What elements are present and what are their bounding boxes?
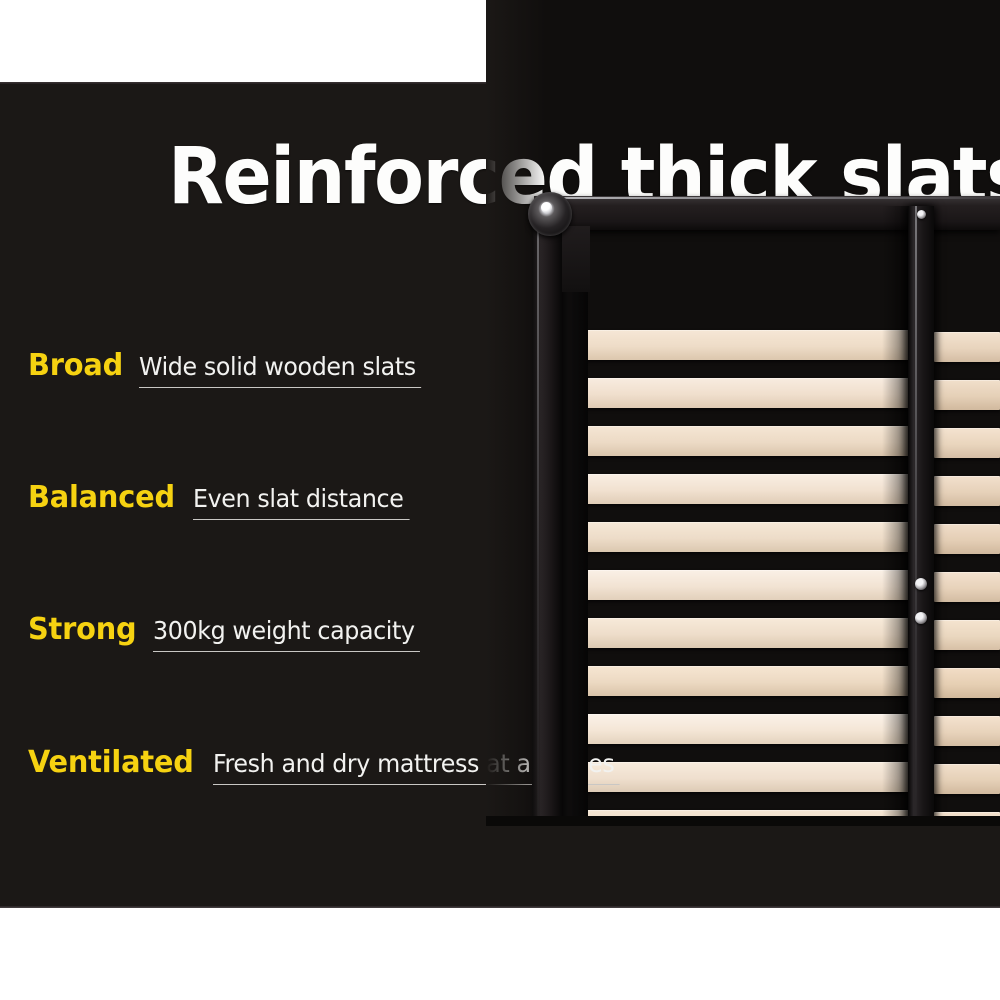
feature-underline — [153, 651, 420, 653]
slat — [586, 762, 916, 792]
centre-rail-screw-lower — [915, 612, 927, 624]
feature-list: Broad Wide solid wooden slats Balanced E… — [0, 0, 520, 1000]
product-feature-image: Reinforced thick slats Broad Wide solid … — [0, 0, 1000, 1000]
centre-support-rail — [908, 206, 934, 826]
bolt-glint — [541, 202, 552, 213]
slat — [586, 330, 916, 360]
slat — [934, 764, 1000, 794]
feature-underline — [193, 519, 409, 521]
photo-bottom-shadow — [486, 816, 1000, 826]
slat — [586, 522, 916, 552]
inner-side-rail — [562, 222, 588, 826]
feature-item-strong: Strong 300kg weight capacity — [28, 612, 428, 652]
slat — [934, 380, 1000, 410]
left-rail-highlight — [537, 214, 539, 826]
slat — [586, 666, 916, 696]
slat — [934, 716, 1000, 746]
corner-bracket — [562, 226, 590, 292]
slat — [934, 428, 1000, 458]
slat — [586, 570, 916, 600]
feature-key: Ventilated — [28, 745, 194, 780]
feature-key: Balanced — [28, 480, 175, 515]
feature-item-balanced: Balanced Even slat distance — [28, 480, 415, 520]
feature-key: Broad — [28, 348, 123, 383]
feature-key: Strong — [28, 612, 136, 647]
bed-frame-photo — [486, 0, 1000, 826]
top-rail-highlight — [538, 197, 1000, 199]
centre-rail-screw-top — [917, 210, 926, 219]
slat — [586, 378, 916, 408]
slat — [586, 618, 916, 648]
slat — [934, 524, 1000, 554]
feature-description: Wide solid wooden slats — [139, 352, 416, 388]
left-side-rail — [532, 214, 562, 826]
slat — [934, 476, 1000, 506]
slat — [934, 668, 1000, 698]
slat — [586, 426, 916, 456]
centre-rail-highlight — [915, 206, 917, 826]
feature-item-broad: Broad Wide solid wooden slats — [28, 348, 430, 388]
feature-description: 300kg weight capacity — [153, 616, 415, 652]
slat — [586, 714, 916, 744]
corner-bolt-icon — [528, 192, 572, 236]
centre-rail-screw-upper — [915, 578, 927, 590]
slat — [586, 474, 916, 504]
feature-description: Even slat distance — [193, 484, 403, 520]
slat — [934, 332, 1000, 362]
feature-underline — [139, 387, 421, 389]
slat — [934, 572, 1000, 602]
slat — [934, 620, 1000, 650]
